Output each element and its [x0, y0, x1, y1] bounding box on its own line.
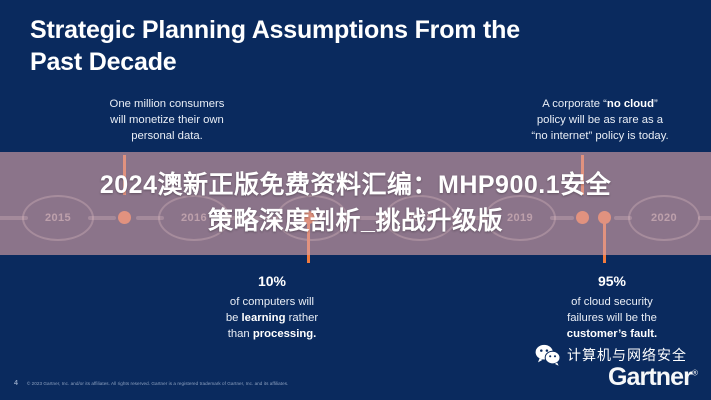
callout-bottom-right: 95% of cloud security failures will be t…	[516, 272, 708, 342]
callout-bottom-left: 10% of computers will be learning rather…	[176, 272, 368, 342]
callout-top-right: A corporate “no cloud” policy will be as…	[492, 96, 708, 144]
footer: 4 © 2023 Gartner, Inc. and/or its affili…	[14, 380, 288, 387]
page-number: 4	[14, 380, 18, 387]
gartner-logo-text: Gartner	[608, 363, 692, 391]
callout-tr-line1-suffix: ”	[654, 98, 658, 110]
callout-tl-line3: personal data.	[131, 130, 203, 142]
callout-br-stat: 95%	[516, 272, 708, 292]
overlay-caption-line1: 2024澳新正版免费资料汇编：MHP900.1安全	[100, 171, 611, 199]
callout-br-line2: failures will be the	[567, 312, 657, 324]
callout-top-left: One million consumers will monetize thei…	[56, 96, 278, 144]
overlay-caption-line2: 策略深度剖析_挑战升级版	[208, 207, 503, 235]
callout-bl-line2-prefix: be	[226, 312, 242, 324]
callout-br-emphasis: customer’s fault.	[567, 328, 657, 340]
callout-tl-line1: One million consumers	[110, 98, 225, 110]
callout-tr-emphasis: no cloud	[607, 98, 654, 110]
callout-tr-line1-prefix: A corporate “	[542, 98, 607, 110]
callout-bl-emphasis-learning: learning	[242, 312, 286, 324]
registered-trademark-icon: ®	[692, 369, 697, 378]
callout-tr-line3: “no internet” policy is today.	[531, 130, 668, 142]
callout-bl-emphasis-processing: processing.	[253, 328, 316, 340]
gartner-logo: Gartner®	[608, 363, 697, 392]
callout-bl-line3-prefix: than	[228, 328, 253, 340]
copyright-notice: © 2023 Gartner, Inc. and/or its affiliat…	[27, 381, 288, 386]
callout-tl-line2: will monetize their own	[110, 114, 224, 126]
wechat-watermark-text: 计算机与网络安全	[567, 345, 687, 365]
callout-tr-line2: policy will be as rare as a	[537, 114, 663, 126]
callout-br-line1: of cloud security	[571, 296, 653, 308]
callout-bl-line2-suffix: rather	[286, 312, 319, 324]
slide-canvas: Strategic Planning Assumptions From the …	[0, 0, 711, 400]
wechat-icon	[535, 344, 561, 366]
page-title: Strategic Planning Assumptions From the …	[30, 14, 570, 78]
wechat-watermark: 计算机与网络安全	[535, 344, 687, 366]
callout-bl-stat: 10%	[176, 272, 368, 292]
callout-bl-line1: of computers will	[230, 296, 314, 308]
overlay-caption: 2024澳新正版免费资料汇编：MHP900.1安全 策略深度剖析_挑战升级版	[0, 168, 711, 239]
